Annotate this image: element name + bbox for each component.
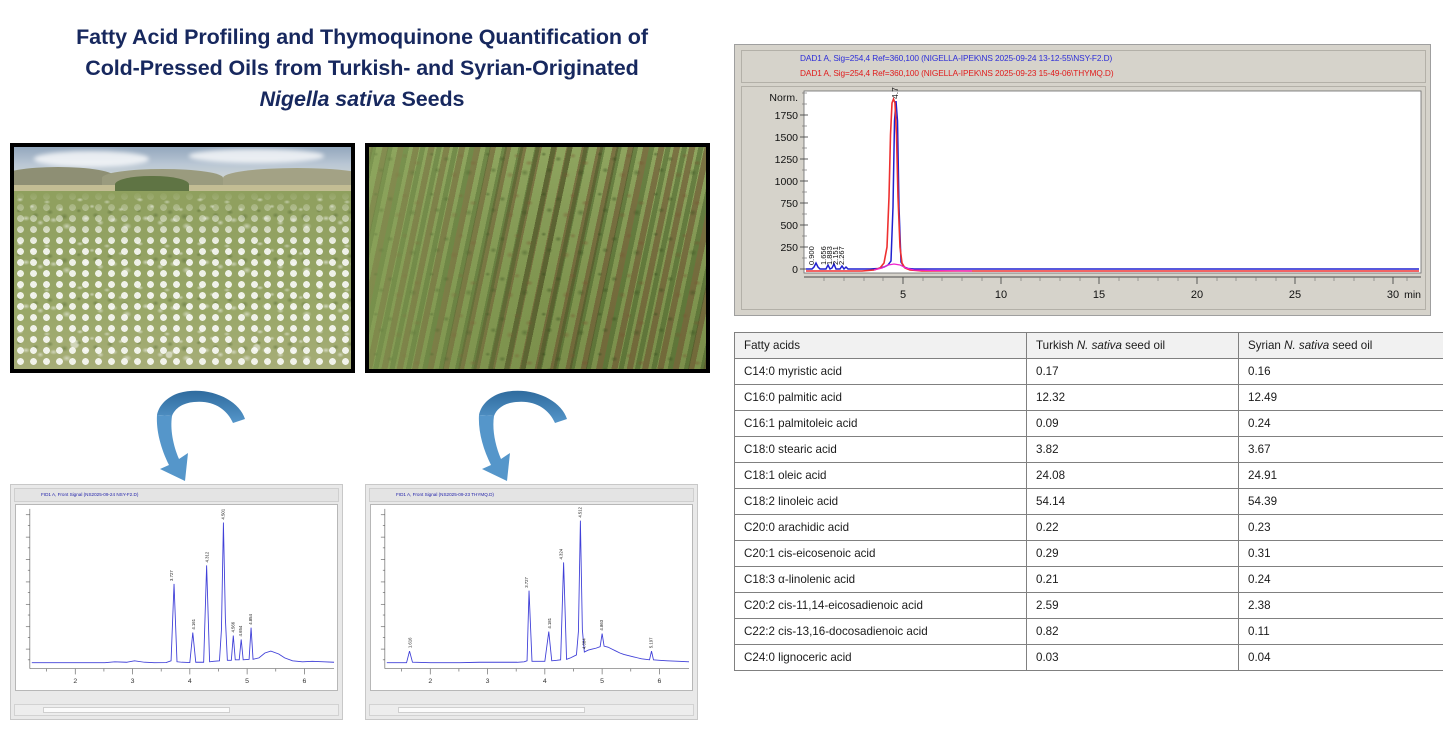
table-row: C18:0 stearic acid3.823.67 xyxy=(735,437,1443,463)
svg-text:4.749: 4.749 xyxy=(890,87,900,99)
fatty-acid-composition-table: Fatty acids Turkish N. sativa seed oil S… xyxy=(734,332,1443,671)
table-row: C22:2 cis-13,16-docosadienoic acid0.820.… xyxy=(735,619,1443,645)
cell-turkish-value: 0.03 xyxy=(1027,645,1239,671)
svg-text:3.727: 3.727 xyxy=(169,570,174,581)
cell-syrian-value: 0.24 xyxy=(1239,567,1443,593)
svg-text:4.512: 4.512 xyxy=(577,506,582,517)
svg-text:1.616: 1.616 xyxy=(407,637,412,648)
table-row: C14:0 myristic acid0.170.16 xyxy=(735,359,1443,385)
svg-text:1750: 1750 xyxy=(775,110,799,122)
hplc-chart: Norm. 17501500 12501000 750500 2500 xyxy=(742,87,1425,309)
title-line-3: Nigella sativa Seeds xyxy=(12,84,712,115)
cell-syrian-value: 0.11 xyxy=(1239,619,1443,645)
field-photo-flowering-content xyxy=(14,147,351,369)
header-turkish-post: seed oil xyxy=(1122,339,1165,352)
svg-text:6: 6 xyxy=(302,678,306,685)
svg-text:250: 250 xyxy=(780,242,798,254)
cell-fatty-acid-name: C14:0 myristic acid xyxy=(735,359,1027,385)
svg-text:4.854: 4.854 xyxy=(248,613,253,624)
table-body: C14:0 myristic acid0.170.16C16:0 palmiti… xyxy=(735,359,1443,671)
gc-chromatogram-window-syrian[interactable]: FID1 A, Front Signal (NS2025-09-23 THYMQ… xyxy=(365,484,698,720)
svg-text:0: 0 xyxy=(792,264,798,276)
svg-text:10: 10 xyxy=(995,289,1007,301)
cell-fatty-acid-name: C18:3 α-linolenic acid xyxy=(735,567,1027,593)
svg-text:4.684: 4.684 xyxy=(581,638,586,649)
cell-fatty-acid-name: C18:1 oleic acid xyxy=(735,463,1027,489)
poster-root: Fatty Acid Profiling and Thymoquinone Qu… xyxy=(0,0,1443,730)
svg-text:4.324: 4.324 xyxy=(559,548,564,559)
svg-text:2: 2 xyxy=(73,678,77,685)
svg-text:1500: 1500 xyxy=(775,132,799,144)
cell-syrian-value: 2.38 xyxy=(1239,593,1443,619)
svg-text:4.312: 4.312 xyxy=(205,551,210,562)
header-turkish-pre: Turkish xyxy=(1036,339,1077,352)
hplc-legend: DAD1 A, Sig=254,4 Ref=360,100 (NIGELLA-I… xyxy=(741,50,1426,83)
gc-chromatogram-window-turkish[interactable]: FID1 A, Front Signal (NS2025-09-24 NSY-F… xyxy=(10,484,343,720)
table-row: C18:1 oleic acid24.0824.91 xyxy=(735,463,1443,489)
svg-text:4.181: 4.181 xyxy=(547,617,552,628)
cell-turkish-value: 12.32 xyxy=(1027,385,1239,411)
cell-turkish-value: 54.14 xyxy=(1027,489,1239,515)
svg-text:20: 20 xyxy=(1191,289,1203,301)
field-photo-crop-rows-content xyxy=(369,147,706,369)
title-species-name: Nigella sativa xyxy=(260,87,396,111)
cell-turkish-value: 0.82 xyxy=(1027,619,1239,645)
hplc-x-axis-label: min xyxy=(1404,289,1421,301)
cell-syrian-value: 54.39 xyxy=(1239,489,1443,515)
cell-syrian-value: 3.67 xyxy=(1239,437,1443,463)
table-row: C16:0 palmitic acid12.3212.49 xyxy=(735,385,1443,411)
cell-fatty-acid-name: C20:1 cis-eicosenoic acid xyxy=(735,541,1027,567)
cell-fatty-acid-name: C22:2 cis-13,16-docosadienoic acid xyxy=(735,619,1027,645)
cell-turkish-value: 0.17 xyxy=(1027,359,1239,385)
svg-text:2: 2 xyxy=(428,678,432,685)
table-header-fatty-acids: Fatty acids xyxy=(735,333,1027,359)
page-title: Fatty Acid Profiling and Thymoquinone Qu… xyxy=(12,22,712,115)
svg-text:4.161: 4.161 xyxy=(191,618,196,629)
hplc-chromatogram-window[interactable]: DAD1 A, Sig=254,4 Ref=360,100 (NIGELLA-I… xyxy=(734,44,1431,316)
hplc-plot-box: Norm. 17501500 12501000 750500 2500 xyxy=(741,86,1426,310)
table-header-row: Fatty acids Turkish N. sativa seed oil S… xyxy=(735,333,1443,359)
cell-syrian-value: 0.16 xyxy=(1239,359,1443,385)
svg-text:30: 30 xyxy=(1387,289,1399,301)
svg-text:6: 6 xyxy=(657,678,661,685)
svg-text:4.654: 4.654 xyxy=(238,625,243,636)
svg-text:5: 5 xyxy=(245,678,249,685)
right-column: DAD1 A, Sig=254,4 Ref=360,100 (NIGELLA-I… xyxy=(722,0,1443,730)
cell-turkish-value: 0.22 xyxy=(1027,515,1239,541)
svg-text:5.197: 5.197 xyxy=(648,637,653,648)
gc-trace-syrian: 234 56 1.616 3.727 4.181 4.324 4.512 4.6… xyxy=(371,505,692,690)
cell-fatty-acid-name: C16:1 palmitoleic acid xyxy=(735,411,1027,437)
cell-fatty-acid-name: C24:0 lignoceric acid xyxy=(735,645,1027,671)
cell-syrian-value: 24.91 xyxy=(1239,463,1443,489)
cell-turkish-value: 0.09 xyxy=(1027,411,1239,437)
gc-trace-turkish: 234 56 3.727 4.161 4.312 4.501 4.566 4.6… xyxy=(16,505,337,690)
gc-scrollbar-syrian[interactable] xyxy=(398,707,585,713)
cell-syrian-value: 0.24 xyxy=(1239,411,1443,437)
svg-text:500: 500 xyxy=(780,220,798,232)
cell-syrian-value: 0.04 xyxy=(1239,645,1443,671)
gc-window-footer-syrian[interactable] xyxy=(369,704,694,716)
title-line-2: Cold-Pressed Oils from Turkish- and Syri… xyxy=(12,53,712,84)
table-row: C20:2 cis-11,14-eicosadienoic acid2.592.… xyxy=(735,593,1443,619)
table-header-turkish: Turkish N. sativa seed oil xyxy=(1027,333,1239,359)
cloud-shape xyxy=(189,149,324,162)
svg-text:3: 3 xyxy=(486,678,490,685)
crop-field-left-overlay xyxy=(369,147,544,369)
table-row: C18:2 linoleic acid54.1454.39 xyxy=(735,489,1443,515)
svg-text:750: 750 xyxy=(780,198,798,210)
cell-turkish-value: 0.29 xyxy=(1027,541,1239,567)
header-syrian-pre: Syrian xyxy=(1248,339,1284,352)
flowering-field-region xyxy=(14,191,351,369)
svg-text:2.267: 2.267 xyxy=(837,246,846,265)
hplc-legend-line-blue: DAD1 A, Sig=254,4 Ref=360,100 (NIGELLA-I… xyxy=(800,51,1425,66)
svg-text:4.863: 4.863 xyxy=(599,619,604,630)
gc-plot-area-turkish: 234 56 3.727 4.161 4.312 4.501 4.566 4.6… xyxy=(15,504,338,691)
cell-fatty-acid-name: C20:2 cis-11,14-eicosadienoic acid xyxy=(735,593,1027,619)
table-row: C16:1 palmitoleic acid0.090.24 xyxy=(735,411,1443,437)
cell-syrian-value: 0.31 xyxy=(1239,541,1443,567)
svg-text:4.566: 4.566 xyxy=(230,621,235,632)
left-column: Fatty Acid Profiling and Thymoquinone Qu… xyxy=(0,0,722,730)
hplc-legend-line-red: DAD1 A, Sig=254,4 Ref=360,100 (NIGELLA-I… xyxy=(800,66,1425,81)
arrow-to-right-chromatogram xyxy=(477,383,587,483)
cell-syrian-value: 12.49 xyxy=(1239,385,1443,411)
table-row: C20:0 arachidic acid0.220.23 xyxy=(735,515,1443,541)
cell-turkish-value: 24.08 xyxy=(1027,463,1239,489)
svg-text:3: 3 xyxy=(131,678,135,685)
header-syrian-post: seed oil xyxy=(1329,339,1372,352)
svg-text:4: 4 xyxy=(543,678,547,685)
cell-turkish-value: 0.21 xyxy=(1027,567,1239,593)
table-row: C20:1 cis-eicosenoic acid0.290.31 xyxy=(735,541,1443,567)
gc-window-footer-turkish[interactable] xyxy=(14,704,339,716)
cell-fatty-acid-name: C18:2 linoleic acid xyxy=(735,489,1027,515)
cell-fatty-acid-name: C16:0 palmitic acid xyxy=(735,385,1027,411)
table-row: C24:0 lignoceric acid0.030.04 xyxy=(735,645,1443,671)
svg-text:5: 5 xyxy=(900,289,906,301)
field-photo-crop-rows xyxy=(365,143,710,373)
title-line-1: Fatty Acid Profiling and Thymoquinone Qu… xyxy=(12,22,712,53)
svg-text:1250: 1250 xyxy=(775,154,799,166)
svg-text:15: 15 xyxy=(1093,289,1105,301)
gc-window-title-turkish: FID1 A, Front Signal (NS2025-09-24 NSY-F… xyxy=(14,488,339,502)
svg-text:25: 25 xyxy=(1289,289,1301,301)
svg-text:5: 5 xyxy=(600,678,604,685)
cloud-shape xyxy=(34,151,149,167)
svg-text:4: 4 xyxy=(188,678,192,685)
header-syrian-species: N. sativa xyxy=(1284,339,1329,352)
flower-speckles xyxy=(14,191,351,369)
cell-syrian-value: 0.23 xyxy=(1239,515,1443,541)
cell-turkish-value: 2.59 xyxy=(1027,593,1239,619)
arrow-to-left-chromatogram xyxy=(155,383,265,483)
cell-fatty-acid-name: C20:0 arachidic acid xyxy=(735,515,1027,541)
gc-plot-area-syrian: 234 56 1.616 3.727 4.181 4.324 4.512 4.6… xyxy=(370,504,693,691)
hplc-y-axis-label: Norm. xyxy=(769,92,798,104)
svg-text:1000: 1000 xyxy=(775,176,799,188)
gc-window-title-syrian: FID1 A, Front Signal (NS2025-09-23 THYMQ… xyxy=(369,488,694,502)
header-turkish-species: N. sativa xyxy=(1077,339,1122,352)
table-header-syrian: Syrian N. sativa seed oil xyxy=(1239,333,1443,359)
cell-turkish-value: 3.82 xyxy=(1027,437,1239,463)
svg-text:4.501: 4.501 xyxy=(220,508,225,519)
title-line-3-rest: Seeds xyxy=(396,87,465,111)
svg-text:3.727: 3.727 xyxy=(524,576,529,587)
field-photo-flowering xyxy=(10,143,355,373)
table-row: C18:3 α-linolenic acid0.210.24 xyxy=(735,567,1443,593)
gc-scrollbar-turkish[interactable] xyxy=(43,707,230,713)
cell-fatty-acid-name: C18:0 stearic acid xyxy=(735,437,1027,463)
svg-text:0.900: 0.900 xyxy=(807,246,816,265)
